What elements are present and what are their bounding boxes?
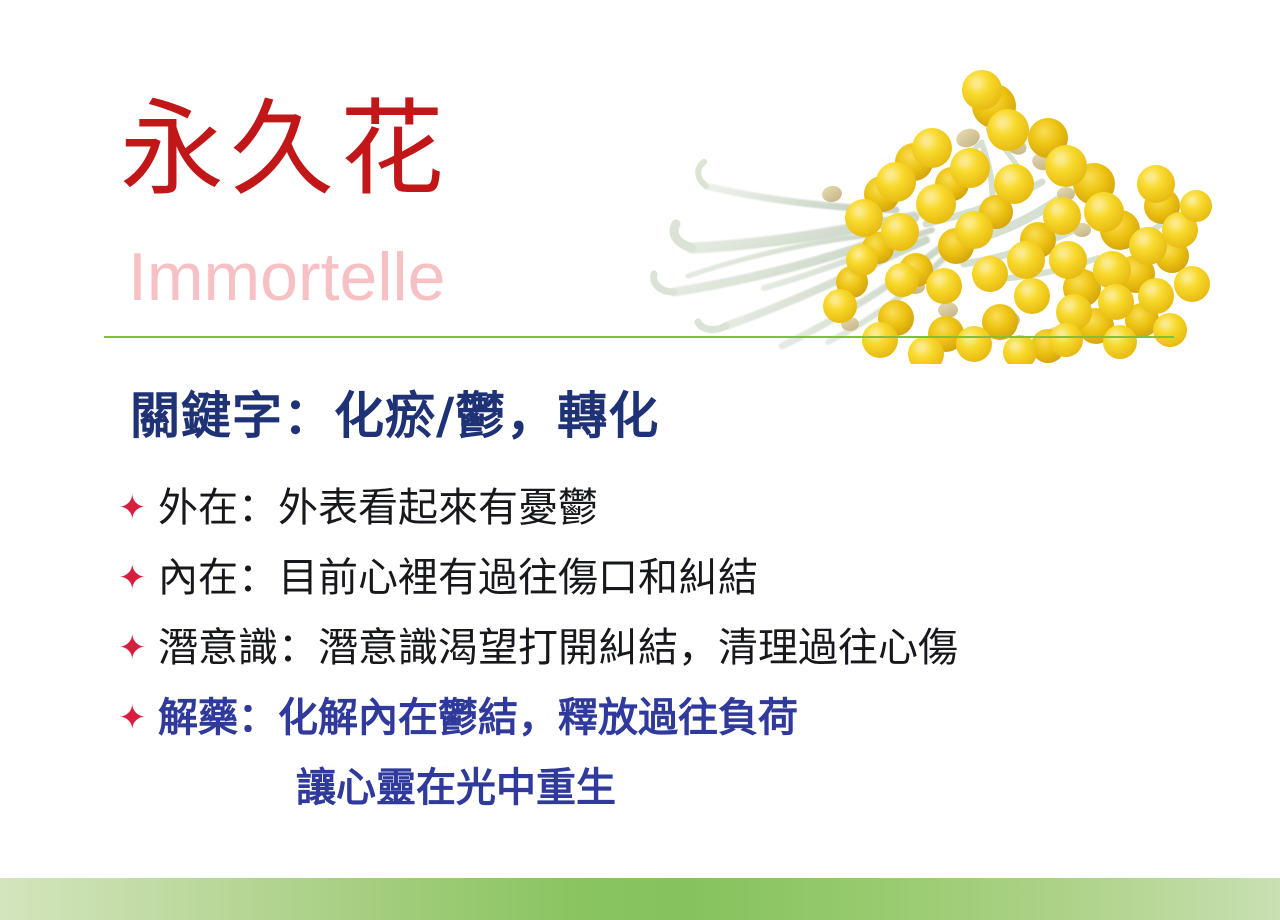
- four-point-star-icon: ✦: [118, 552, 158, 604]
- slide-title-english: Immortelle: [128, 243, 445, 311]
- footer-green-bar: [0, 878, 1280, 920]
- bullet-text-remedy: 解藥：化解內在鬱結，釋放過往負荷: [158, 692, 1238, 744]
- list-item-continuation: 讓心靈在光中重生: [118, 762, 1238, 832]
- slide-canvas: 永久花 Immortelle 關鍵字：化瘀/鬱，轉化 ✦ 外在：外表看起來有憂鬱…: [0, 0, 1280, 920]
- list-item: ✦ 潛意識：潛意識渴望打開糾結，清理過往心傷: [118, 622, 1238, 692]
- list-item: ✦ 外在：外表看起來有憂鬱: [118, 482, 1238, 552]
- slide-title-chinese: 永久花: [120, 96, 450, 202]
- four-point-star-icon: ✦: [118, 692, 158, 744]
- indent-spacer: [118, 762, 296, 832]
- green-divider-rule: [104, 336, 1174, 338]
- keyword-heading: 關鍵字：化瘀/鬱，轉化: [130, 388, 659, 444]
- list-item: ✦ 內在：目前心裡有過往傷口和糾結: [118, 552, 1238, 622]
- list-item: ✦ 解藥：化解內在鬱結，釋放過往負荷: [118, 692, 1238, 762]
- four-point-star-icon: ✦: [118, 622, 158, 674]
- bullet-text-subconscious: 潛意識：潛意識渴望打開糾結，清理過往心傷: [158, 622, 1238, 674]
- bullet-list: ✦ 外在：外表看起來有憂鬱 ✦ 內在：目前心裡有過往傷口和糾結 ✦ 潛意識：潛意…: [118, 482, 1238, 832]
- immortelle-flower-image: [596, 34, 1280, 364]
- bullet-text-outer: 外在：外表看起來有憂鬱: [158, 482, 1238, 534]
- four-point-star-icon: ✦: [118, 482, 158, 534]
- bullet-text-inner: 內在：目前心裡有過往傷口和糾結: [158, 552, 1238, 604]
- bullet-text-remedy-line2: 讓心靈在光中重生: [296, 762, 616, 832]
